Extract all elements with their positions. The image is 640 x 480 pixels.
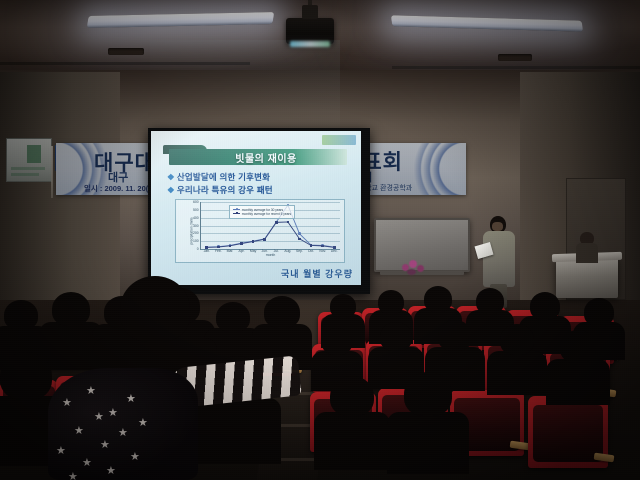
star-motif-icon: ★ xyxy=(86,386,96,397)
chart-y-tick: 300 xyxy=(193,224,200,228)
audience-member xyxy=(404,372,452,416)
poster-text-line xyxy=(11,173,39,176)
flower-arrangement xyxy=(400,258,430,276)
audience-member xyxy=(438,320,472,351)
audience-member-body xyxy=(546,359,610,405)
audience-member xyxy=(584,298,614,326)
projector-icon xyxy=(286,18,334,44)
podium-person-body xyxy=(576,243,598,263)
chart-legend-swatch xyxy=(233,213,240,214)
slide-bullet-1: ❖산업발달에 의한 기후변화 xyxy=(167,171,270,183)
chart-data-point xyxy=(240,242,243,245)
presenter-coat xyxy=(483,231,515,287)
chart-data-point xyxy=(321,245,324,248)
star-motif-icon: ★ xyxy=(130,452,140,463)
slide-bullet-2: ❖우리나라 특유의 강우 패턴 xyxy=(167,184,273,196)
slide-title: 빗물의 재이용 xyxy=(206,150,326,165)
chart-y-tick: 400 xyxy=(193,216,200,220)
chart-data-point xyxy=(217,246,220,249)
star-motif-icon: ★ xyxy=(74,426,84,437)
poster-text-line xyxy=(11,167,45,170)
poster-graphic xyxy=(27,145,41,163)
audience-member xyxy=(378,290,404,314)
lecture-hall-photo: 대구대 대구 일시 : 2009. 11. 20(금) 발표회 발표회 : 대구… xyxy=(0,0,640,480)
chart-legend-label: monthly average for recent 5 years xyxy=(242,212,291,216)
chart-data-point xyxy=(263,238,266,241)
star-motif-icon: ★ xyxy=(118,428,128,439)
star-motif-icon: ★ xyxy=(94,412,104,423)
star-motif-icon: ★ xyxy=(56,446,66,457)
chart-x-tick: Sep. xyxy=(296,249,303,253)
audience-member xyxy=(264,296,300,328)
audience-member xyxy=(330,376,374,416)
podium xyxy=(556,258,618,298)
chart-x-tick: Nov. xyxy=(319,249,326,253)
chart-x-tick: Jan. xyxy=(204,249,210,253)
slide-bullet-2-text: 우리나라 특유의 강우 패턴 xyxy=(177,185,273,195)
seat-shadow xyxy=(533,405,603,463)
audience-member xyxy=(0,352,52,400)
chart-legend: monthly average for 30 yearsmonthly aver… xyxy=(229,205,295,219)
presenter-face xyxy=(492,222,503,231)
ceiling-vent-icon xyxy=(108,48,144,55)
audience-member-body xyxy=(487,351,547,395)
audience-member xyxy=(530,292,560,320)
star-motif-icon: ★ xyxy=(100,440,110,451)
audience-member xyxy=(52,292,90,326)
chart-data-point xyxy=(229,245,232,248)
audience-member xyxy=(322,328,352,355)
audience-member xyxy=(424,286,452,312)
chart-x-tick: May xyxy=(250,249,256,253)
chart-data-point xyxy=(298,232,301,235)
bullet-marker-icon: ❖ xyxy=(167,172,175,182)
chart-x-tick: Feb. xyxy=(215,249,222,253)
chart-legend-item: monthly average for recent 5 years xyxy=(233,212,291,216)
star-pattern-jacket: ★★★★★★★★★★★★★★ xyxy=(48,368,198,480)
chart-x-tick: Dec. xyxy=(331,249,338,253)
audience-member xyxy=(560,330,596,363)
bullet-marker-icon: ❖ xyxy=(167,185,175,195)
audience-member xyxy=(380,322,412,351)
auditorium-seat[interactable] xyxy=(528,396,608,468)
flower-icon xyxy=(417,265,424,272)
chart-data-point xyxy=(205,246,208,249)
chart-data-point xyxy=(298,238,301,241)
audience-member xyxy=(120,276,190,342)
projection-screen: 빗물의 재이용 ❖산업발달에 의한 기후변화 ❖우리나라 특유의 강우 패턴 p… xyxy=(148,128,370,294)
chart-y-tick: 0 xyxy=(197,247,200,251)
wall-poster xyxy=(6,138,52,182)
chart-data-point xyxy=(333,246,336,249)
slide-bullet-1-text: 산업발달에 의한 기후변화 xyxy=(177,172,270,182)
star-motif-icon: ★ xyxy=(82,458,92,469)
star-motif-icon: ★ xyxy=(68,472,78,480)
slide-caption: 국내 월별 강우량 xyxy=(281,267,353,280)
chart-plot-area: 0100200300400500600 Jan.Feb.Mar.Apr.MayJ… xyxy=(200,202,340,250)
chart-x-tick: Oct. xyxy=(308,249,314,253)
presentation-slide: 빗물의 재이용 ❖산업발달에 의한 기후변화 ❖우리나라 특유의 강우 패턴 p… xyxy=(151,131,361,285)
precipitation-chart: precipitation (mm) 0100200300400500600 J… xyxy=(175,199,345,263)
left-wall xyxy=(0,72,120,332)
chart-x-axis-label: month xyxy=(266,253,275,257)
audience-member xyxy=(330,294,356,318)
chart-data-point xyxy=(287,221,290,224)
audience-member xyxy=(476,288,504,314)
slide-logo xyxy=(322,135,356,145)
audience-member xyxy=(216,302,250,332)
star-motif-icon: ★ xyxy=(138,418,148,429)
audience-member xyxy=(4,300,38,330)
chart-data-point xyxy=(310,244,313,247)
ceiling-vent-icon xyxy=(498,54,532,61)
chart-y-tick: 600 xyxy=(193,200,200,204)
chart-y-tick: 100 xyxy=(193,239,200,243)
chart-data-point xyxy=(252,240,255,243)
ceiling-seam xyxy=(0,62,250,65)
audience-member-body xyxy=(387,412,469,474)
chart-x-tick: Mar. xyxy=(227,249,234,253)
chart-y-tick: 500 xyxy=(193,208,200,212)
star-motif-icon: ★ xyxy=(62,398,72,409)
projector-mount xyxy=(302,5,318,19)
chart-y-tick: 200 xyxy=(193,231,200,235)
person-at-podium xyxy=(576,232,598,262)
star-motif-icon: ★ xyxy=(106,466,116,477)
flower-icon xyxy=(407,269,416,275)
chart-x-tick: Aug. xyxy=(284,249,291,253)
chart-data-point xyxy=(275,221,278,224)
star-motif-icon: ★ xyxy=(126,394,136,405)
wall-pole xyxy=(51,146,53,198)
audience-member xyxy=(500,324,534,355)
ceiling-seam xyxy=(392,66,640,69)
chart-legend-swatch xyxy=(233,209,240,210)
flower-icon xyxy=(409,260,417,268)
projector-lens xyxy=(290,41,330,47)
audience-member-body xyxy=(314,412,390,470)
chart-x-tick: Apr. xyxy=(239,249,245,253)
star-motif-icon: ★ xyxy=(108,408,118,419)
